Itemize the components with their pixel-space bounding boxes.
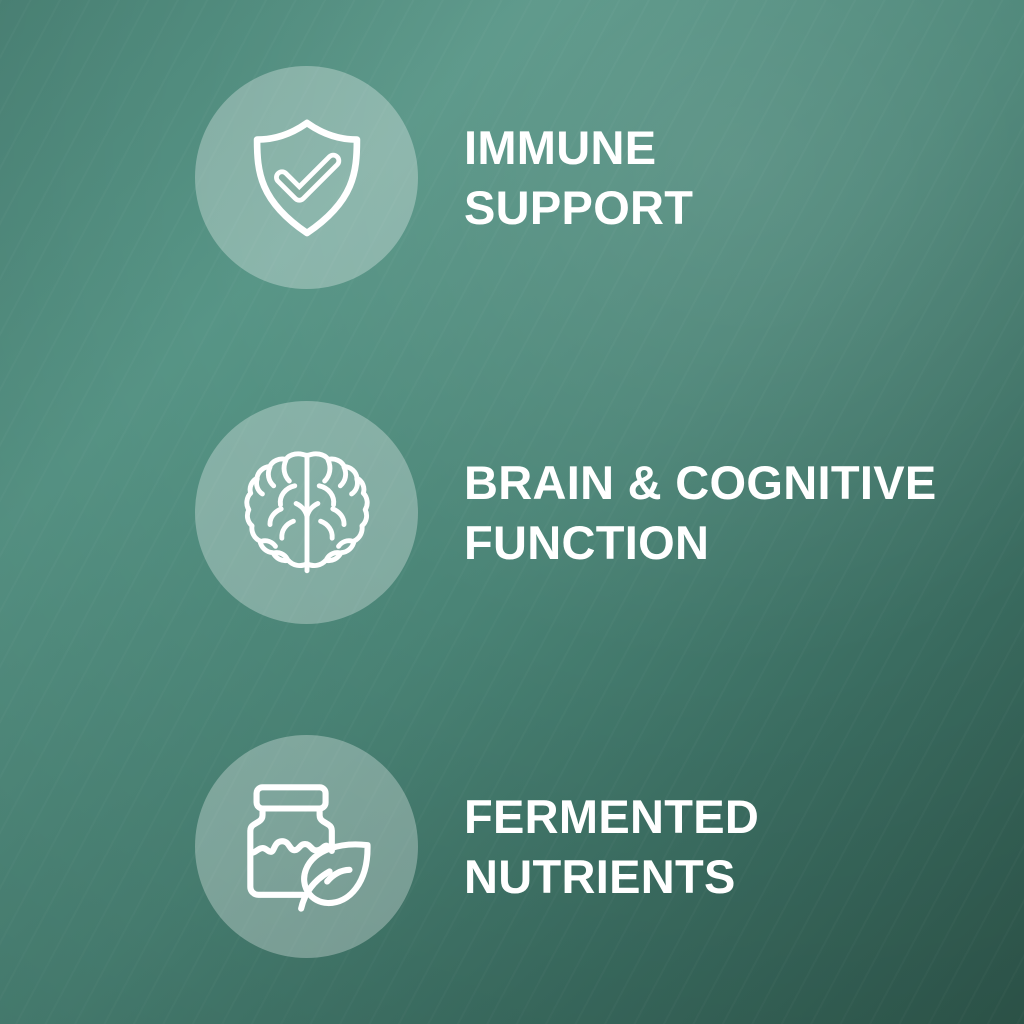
feature-label-fermented-nutrients: FERMENTED NUTRIENTS <box>464 787 759 905</box>
benefits-panel: IMMUNE SUPPORT <box>0 0 1024 1024</box>
feature-item-fermented-nutrients: FERMENTED NUTRIENTS <box>0 735 1024 958</box>
feature-item-brain-cognitive: BRAIN & COGNITIVE FUNCTION <box>0 401 1024 624</box>
icon-badge-fermented-nutrients <box>195 735 418 958</box>
icon-badge-immune-support <box>195 66 418 289</box>
shield-check-icon <box>243 114 371 242</box>
fermented-jar-leaf-icon <box>234 774 380 920</box>
brain-icon <box>239 445 375 581</box>
feature-label-immune-support: IMMUNE SUPPORT <box>464 118 693 236</box>
icon-badge-brain-cognitive <box>195 401 418 624</box>
feature-item-immune-support: IMMUNE SUPPORT <box>0 66 1024 289</box>
feature-label-brain-cognitive: BRAIN & COGNITIVE FUNCTION <box>464 453 937 571</box>
